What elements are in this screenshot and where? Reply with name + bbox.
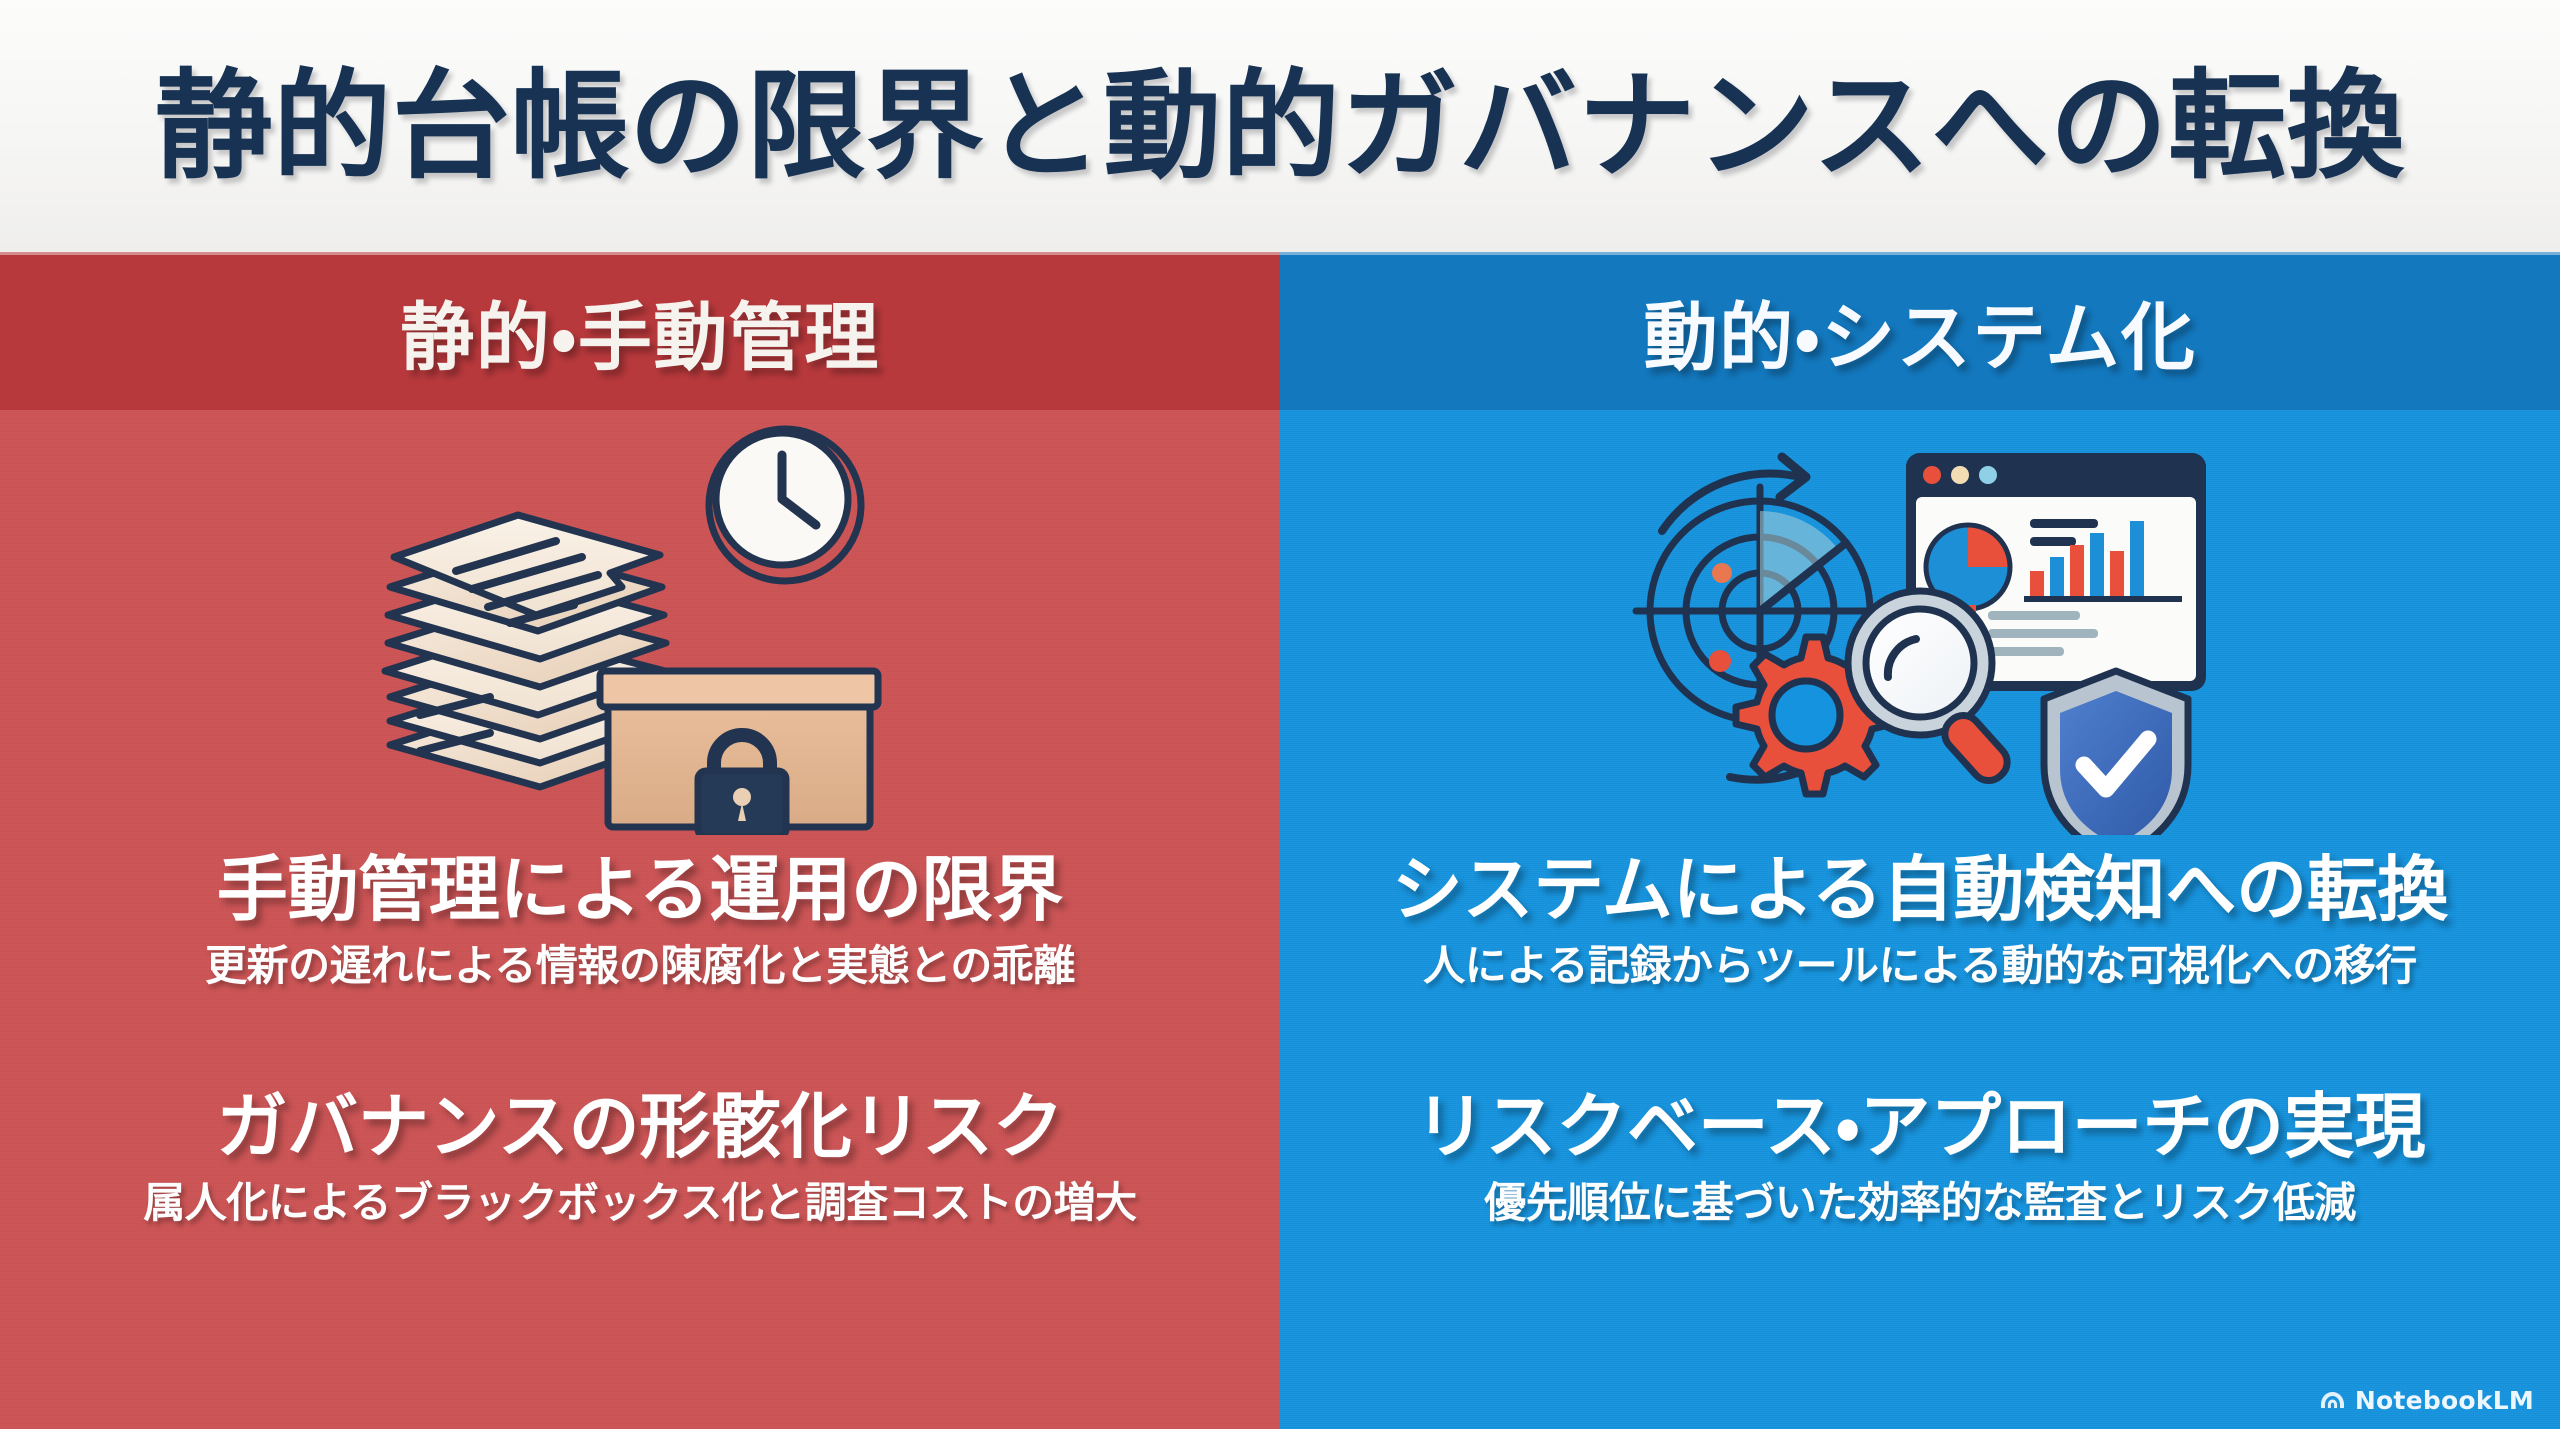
slide-canvas: 静的台帳の限界と動的ガバナンスへの転換 静的・手動管理 [0, 0, 2560, 1429]
panel-header-right-label: 動的・システム化 [1644, 278, 2197, 385]
left-point-1-subtitle: 更新の遅れによる情報の陳腐化と実態との乖離 [0, 943, 1280, 989]
panel-header-left-label: 静的・手動管理 [400, 278, 880, 385]
left-point-2: ガバナンスの形骸化リスク 属人化によるブラックボックス化と調査コストの増大 [0, 1089, 1280, 1226]
clock-icon [709, 429, 861, 581]
right-point-1-subtitle: 人による記録からツールによる動的な可視化への移行 [1280, 943, 2560, 989]
panel-header-left: 静的・手動管理 [0, 252, 1280, 410]
paper-stack-clock-locked-box-icon [360, 415, 920, 835]
shield-check-icon [2044, 671, 2188, 835]
radar-gear-magnifier-dashboard-shield-icon [1610, 415, 2230, 835]
locked-box-icon [600, 671, 878, 835]
notebooklm-watermark: NotebookLM [2319, 1386, 2534, 1415]
right-illustration [1280, 410, 2560, 840]
slide-title-bar: 静的台帳の限界と動的ガバナンスへの転換 [0, 0, 2560, 252]
left-illustration [0, 410, 1280, 840]
panel-dynamic-systemized: 動的・システム化 [1280, 252, 2560, 1429]
slide-title: 静的台帳の限界と動的ガバナンスへの転換 [155, 67, 2406, 185]
left-point-2-subtitle: 属人化によるブラックボックス化と調査コストの増大 [0, 1180, 1280, 1226]
left-point-1-title: 手動管理による運用の限界 [0, 852, 1280, 929]
notebooklm-watermark-label: NotebookLM [2355, 1386, 2534, 1415]
right-point-1: システムによる自動検知への転換 人による記録からツールによる動的な可視化への移行 [1280, 852, 2560, 989]
right-points: システムによる自動検知への転換 人による記録からツールによる動的な可視化への移行… [1280, 852, 2560, 1429]
left-point-2-title: ガバナンスの形骸化リスク [0, 1089, 1280, 1166]
comparison-panes: 静的・手動管理 [0, 252, 2560, 1429]
right-point-2-title: リスクベース・アプローチの実現 [1280, 1089, 2560, 1166]
right-point-2: リスクベース・アプローチの実現 優先順位に基づいた効率的な監査とリスク低減 [1280, 1089, 2560, 1226]
right-point-2-subtitle: 優先順位に基づいた効率的な監査とリスク低減 [1280, 1180, 2560, 1226]
panel-static-manual: 静的・手動管理 [0, 252, 1280, 1429]
right-point-1-title: システムによる自動検知への転換 [1280, 852, 2560, 929]
notebooklm-logo-icon [2319, 1389, 2346, 1413]
panel-header-right: 動的・システム化 [1280, 252, 2560, 410]
left-point-1: 手動管理による運用の限界 更新の遅れによる情報の陳腐化と実態との乖離 [0, 852, 1280, 989]
left-points: 手動管理による運用の限界 更新の遅れによる情報の陳腐化と実態との乖離 ガバナンス… [0, 852, 1280, 1429]
